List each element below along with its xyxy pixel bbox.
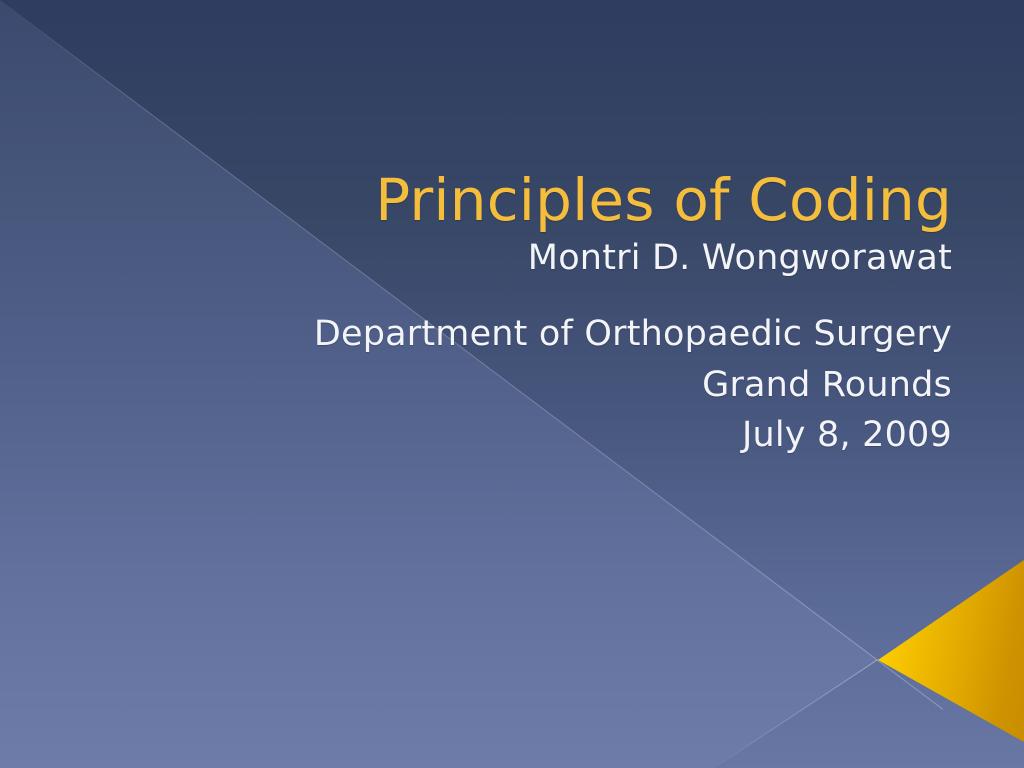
gold-corner-triangle-icon [860,548,1024,748]
subtitle-line-spacer [92,284,952,309]
subtitle-group: Montri D. Wongworawat Department of Orth… [92,233,952,461]
subtitle-line-department: Department of Orthopaedic Surgery [92,309,952,360]
page-title: Principles of Coding [92,168,952,233]
subtitle-line-event: Grand Rounds [92,360,952,411]
subtitle-line-presenter: Montri D. Wongworawat [92,233,952,284]
title-text-block: Principles of Coding Montri D. Wongworaw… [92,168,952,461]
title-slide: Principles of Coding Montri D. Wongworaw… [0,0,1024,768]
subtitle-line-date: July 8, 2009 [92,410,952,461]
